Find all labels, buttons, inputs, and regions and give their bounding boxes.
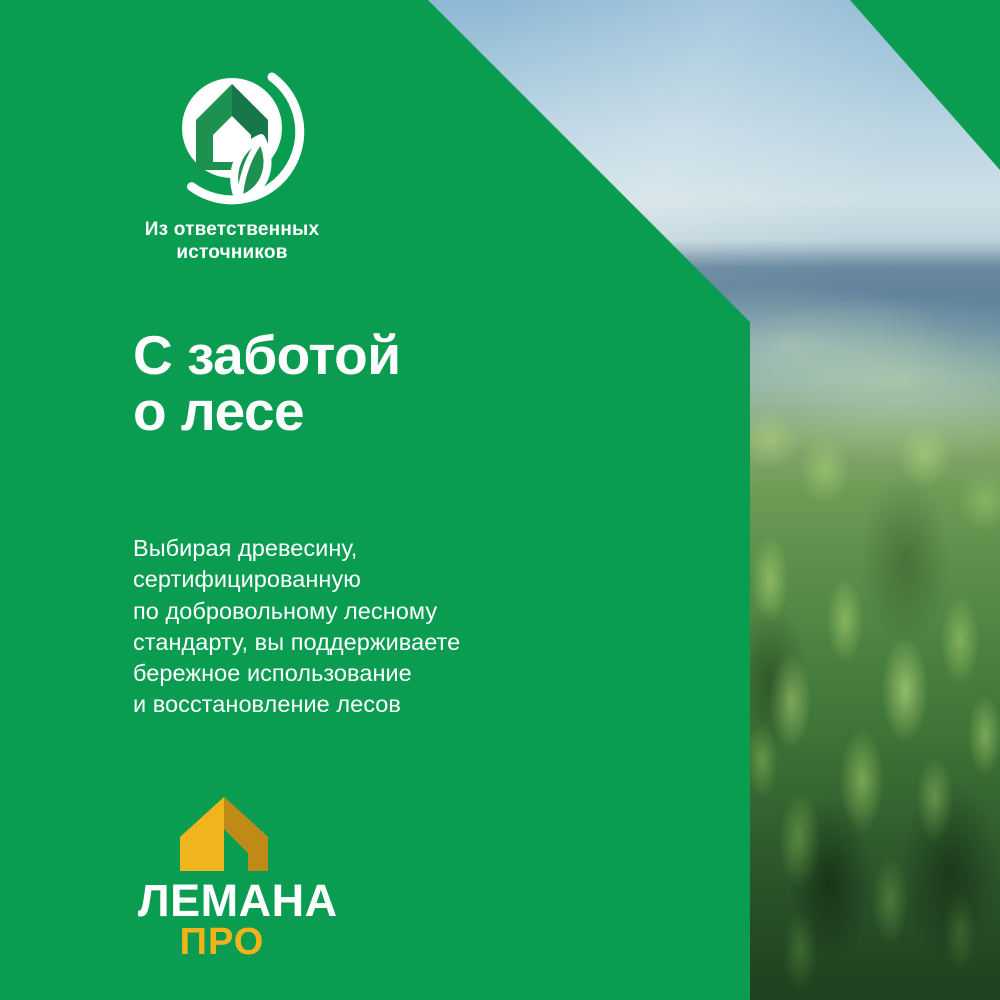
poster-root: Из ответственных источников С заботой о … (0, 0, 1000, 1000)
house-roof-icon (176, 795, 272, 873)
headline: С заботой о лесе (133, 327, 401, 439)
brand-name: ЛЕМАНА (138, 879, 338, 922)
certification-block: Из ответственных источников (112, 58, 352, 264)
responsible-sources-emblem (158, 58, 306, 206)
brand-sub: ПРО (138, 923, 306, 963)
brand-lockup: ЛЕМАНА ПРО (138, 795, 338, 963)
body-copy: Выбирая древесину, сертифицированную по … (133, 533, 460, 721)
certification-caption: Из ответственных источников (112, 218, 352, 264)
